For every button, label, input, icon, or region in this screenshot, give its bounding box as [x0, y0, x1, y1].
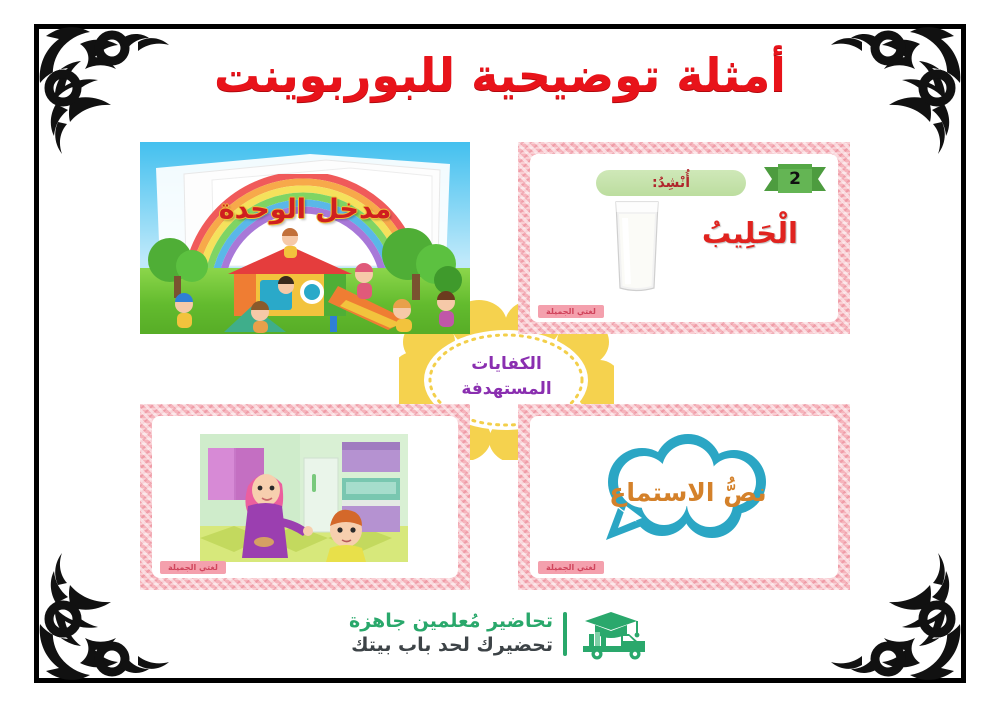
slide-listening-footer-label: لغتي الجميلة	[538, 561, 604, 574]
milk-glass-icon	[610, 198, 664, 292]
slide-milk[interactable]: 2 أُنْشِدُ: الْحَلِيبُ لغتي الجميلة	[518, 142, 850, 334]
slide-number-ribbon: 2	[764, 162, 826, 196]
slide-listening[interactable]: نصُّ الاستماع لغتي الجميلة	[518, 404, 850, 590]
flower-badge-text: الكفايات المستهدفة	[399, 352, 614, 401]
page-title: أمثلة توضيحية للبوربوينت	[0, 48, 1000, 102]
playground-illustration: مدخل الوحدة	[140, 142, 470, 334]
logo-line-1: تحاضير مُعلمين جاهزة	[349, 610, 553, 634]
logo-line-2: تحضيرك لحد باب بيتك	[349, 634, 553, 658]
speech-cloud-icon: نصُّ الاستماع	[584, 434, 792, 554]
sing-prompt-pill: أُنْشِدُ:	[596, 170, 746, 196]
listening-text: نصُّ الاستماع	[584, 478, 792, 507]
flower-line-2: المستهدفة	[399, 377, 614, 402]
slide-kitchen-content: لغتي الجميلة	[152, 416, 458, 578]
kitchen-illustration	[200, 434, 408, 562]
flower-line-1: الكفايات	[399, 352, 614, 377]
logo-text: تحاضير مُعلمين جاهزة تحضيرك لحد باب بيتك	[349, 610, 553, 658]
slide-unit-entry[interactable]: مدخل الوحدة	[140, 142, 470, 334]
poster-page: أمثلة توضيحية للبوربوينت الكفايات المسته…	[0, 0, 1000, 707]
brand-logo[interactable]: تحاضير مُعلمين جاهزة تحضيرك لحد باب بيتك	[349, 608, 651, 660]
slide-milk-footer-label: لغتي الجميلة	[538, 305, 604, 318]
slide-listening-content: نصُّ الاستماع لغتي الجميلة	[530, 416, 838, 578]
slide-milk-content: 2 أُنْشِدُ: الْحَلِيبُ لغتي الجميلة	[530, 154, 838, 322]
slide-kitchen-footer-label: لغتي الجميلة	[160, 561, 226, 574]
delivery-truck-with-books-icon	[577, 608, 651, 660]
logo-divider	[563, 612, 567, 656]
slide-unit-entry-heading: مدخل الوحدة	[140, 194, 470, 225]
milk-word: الْحَلِيبُ	[702, 216, 798, 250]
slide-kitchen[interactable]: لغتي الجميلة	[140, 404, 470, 590]
slide-number: 2	[764, 169, 826, 189]
